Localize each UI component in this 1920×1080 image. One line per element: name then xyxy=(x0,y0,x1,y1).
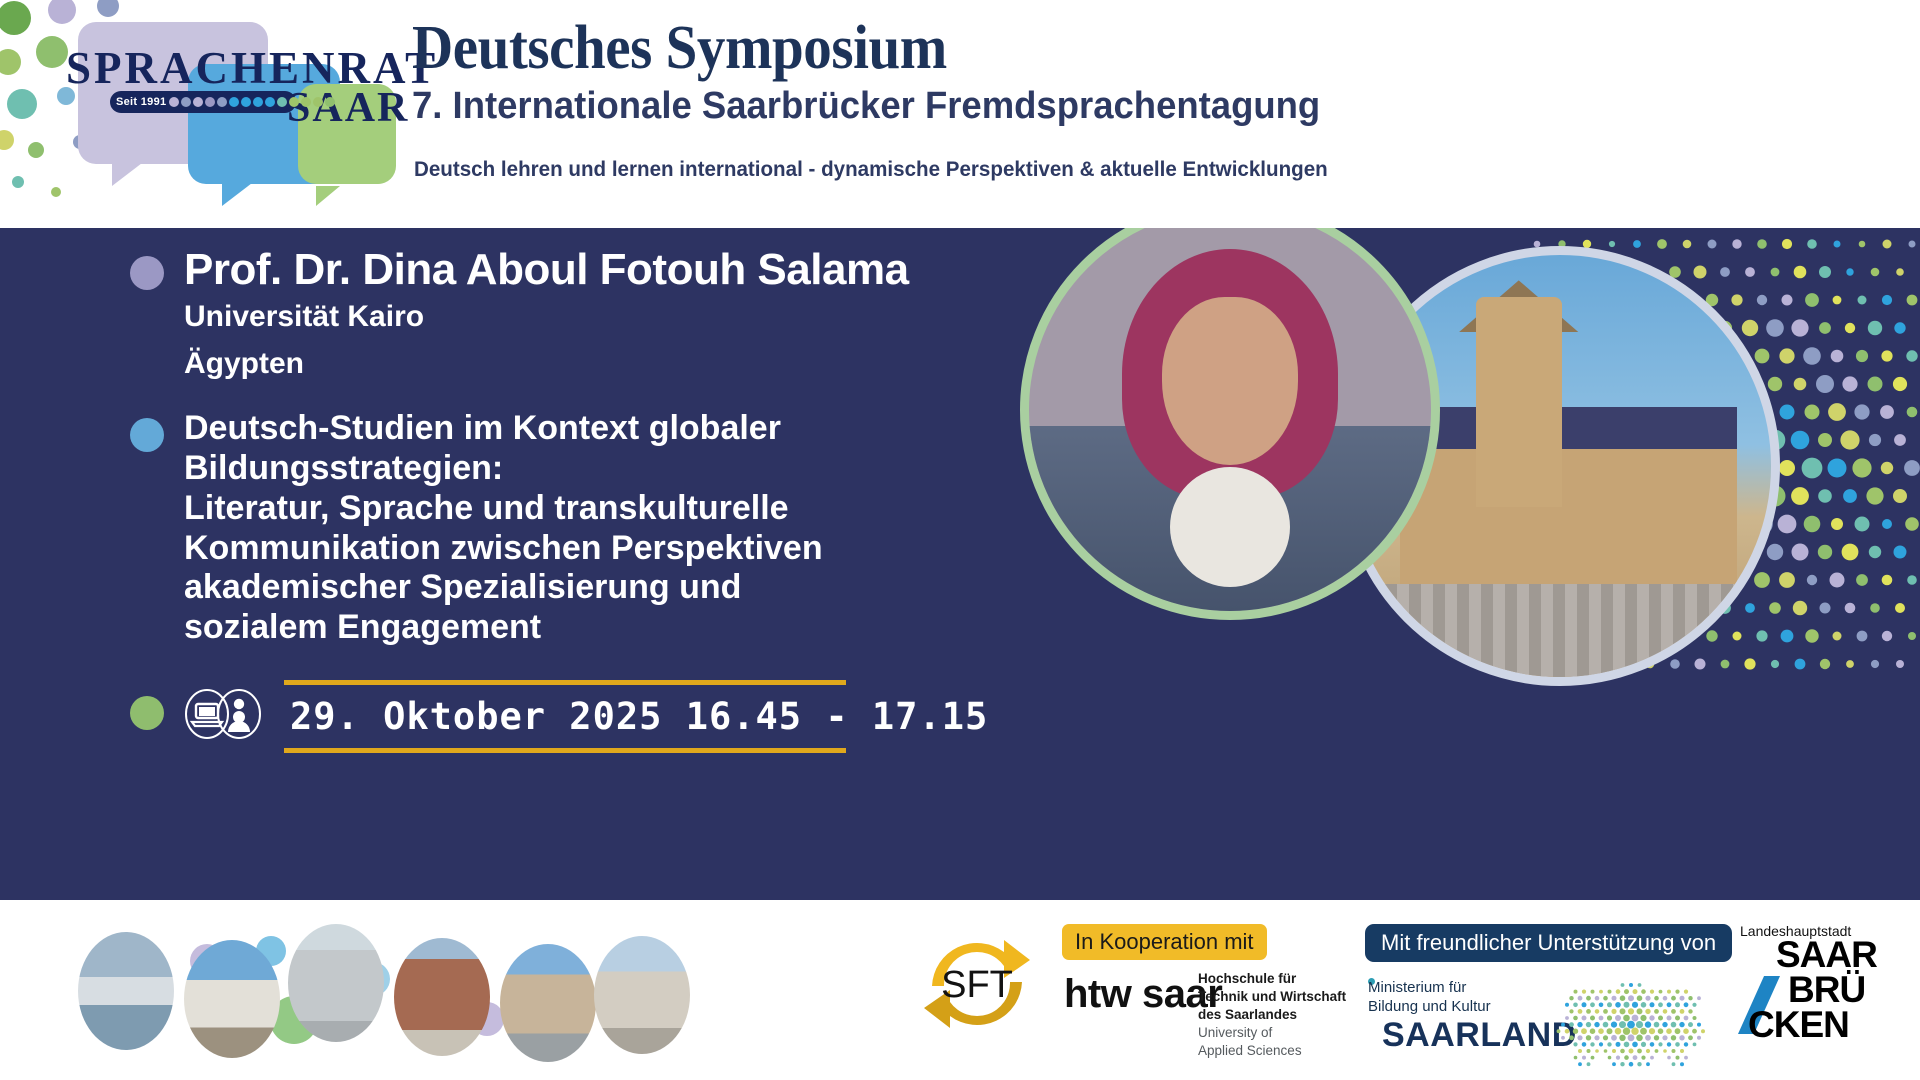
topic-line: Deutsch-Studien im Kontext globaler xyxy=(184,409,823,449)
topic-row: Deutsch-Studien im Kontext globaler Bild… xyxy=(130,409,1070,648)
page-header: SPRACHENRAT SAAR Seit 1991 Deutsches Sym… xyxy=(0,0,1920,228)
topic-line: sozialem Engagement xyxy=(184,608,823,648)
page-subtitle: 7. Internationale Saarbrücker Fremdsprac… xyxy=(412,86,1320,128)
page-tagline: Deutsch lehren und lernen international … xyxy=(414,158,1328,182)
portrait-collar xyxy=(1170,467,1290,587)
logo-since-label: Seit 1991 xyxy=(116,96,166,108)
datetime-box: 29. Oktober 2025 16.45 - 17.15 xyxy=(284,680,846,753)
city-photo-strip xyxy=(70,914,770,1064)
topic-title: Deutsch-Studien im Kontext globaler Bild… xyxy=(184,409,823,648)
bullet-date-icon xyxy=(130,696,164,730)
htw-desc-line: des Saarlandes xyxy=(1198,1007,1297,1022)
city-photo-oval xyxy=(500,944,596,1062)
htw-desc-line: Hochschule für xyxy=(1198,971,1296,986)
logo-wordmark-sub: SAAR xyxy=(287,87,409,129)
sft-label: SFT xyxy=(912,964,1042,1007)
sft-logo: SFT xyxy=(912,924,1042,1044)
pill-dot xyxy=(217,97,227,107)
speaker-name-row: Prof. Dr. Dina Aboul Fotouh Salama xyxy=(130,246,1070,294)
city-photo-oval xyxy=(184,940,280,1058)
logo-since-pill: Seit 1991 xyxy=(110,91,296,113)
htw-desc-line: University of xyxy=(1198,1025,1272,1040)
format-icons xyxy=(184,688,262,740)
pill-dot xyxy=(253,97,263,107)
topic-line: Literatur, Sprache und transkulturelle xyxy=(184,489,823,529)
datetime-text: 29. Oktober 2025 16.45 - 17.15 xyxy=(284,695,846,738)
city-photo-oval xyxy=(594,936,690,1054)
city-photo-oval xyxy=(78,932,174,1050)
pill-dot xyxy=(241,97,251,107)
speaker-block: Prof. Dr. Dina Aboul Fotouh Salama Unive… xyxy=(130,246,1070,753)
htw-desc-line: Applied Sciences xyxy=(1198,1043,1302,1058)
topic-line: akademischer Spezialisierung und xyxy=(184,568,823,608)
ministry-line: Bildung und Kultur xyxy=(1368,998,1491,1015)
church-tower xyxy=(1476,297,1562,507)
speaker-name: Prof. Dr. Dina Aboul Fotouh Salama xyxy=(184,246,909,294)
page-title: Deutsches Symposium xyxy=(412,16,947,81)
pill-dot xyxy=(181,97,191,107)
saarbruecken-line: BRÜ xyxy=(1788,973,1900,1008)
sprachenrat-logo: SPRACHENRAT SAAR Seit 1991 xyxy=(60,12,400,172)
pill-dot xyxy=(277,97,287,107)
main-panel: Prof. Dr. Dina Aboul Fotouh Salama Unive… xyxy=(0,228,1920,900)
topic-line: Bildungsstrategien: xyxy=(184,449,823,489)
pill-dot xyxy=(265,97,275,107)
ministry-name: Ministerium für Bildung und Kultur xyxy=(1368,978,1491,1016)
bullet-topic-icon xyxy=(130,418,164,452)
speaker-affiliation: Universität Kairo xyxy=(184,294,1070,341)
city-photo-oval xyxy=(394,938,490,1056)
speaker-country: Ägypten xyxy=(184,341,1070,388)
datetime-row: 29. Oktober 2025 16.45 - 17.15 xyxy=(130,680,1070,753)
saarbruecken-logo: Landeshauptstadt SAAR BRÜ CKEN xyxy=(1740,924,1900,1064)
saarbruecken-line: SAAR xyxy=(1776,938,1900,973)
person-icon xyxy=(216,688,262,740)
topic-line: Kommunikation zwischen Perspektiven xyxy=(184,529,823,569)
htw-description: Hochschule für Technik und Wirtschaft de… xyxy=(1198,970,1346,1060)
cooperation-badge: In Kooperation mit xyxy=(1062,924,1267,960)
saarland-map-icon xyxy=(1540,980,1730,1070)
portrait-face xyxy=(1162,297,1298,465)
page-footer: SFT In Kooperation mit htw saar Hochschu… xyxy=(0,900,1920,1080)
bullet-name-icon xyxy=(130,256,164,290)
support-badge: Mit freundlicher Unterstützung von xyxy=(1365,924,1732,962)
saarbruecken-line: CKEN xyxy=(1748,1008,1900,1043)
city-photo-oval xyxy=(288,924,384,1042)
pill-dot xyxy=(193,97,203,107)
pill-dot xyxy=(205,97,215,107)
ministry-line: Ministerium für xyxy=(1368,979,1466,996)
church-nave xyxy=(1400,449,1738,592)
pill-dot xyxy=(229,97,239,107)
htw-desc-line: Technik und Wirtschaft xyxy=(1198,989,1346,1004)
speaker-portrait-photo xyxy=(1020,228,1440,620)
pill-dot xyxy=(169,97,179,107)
